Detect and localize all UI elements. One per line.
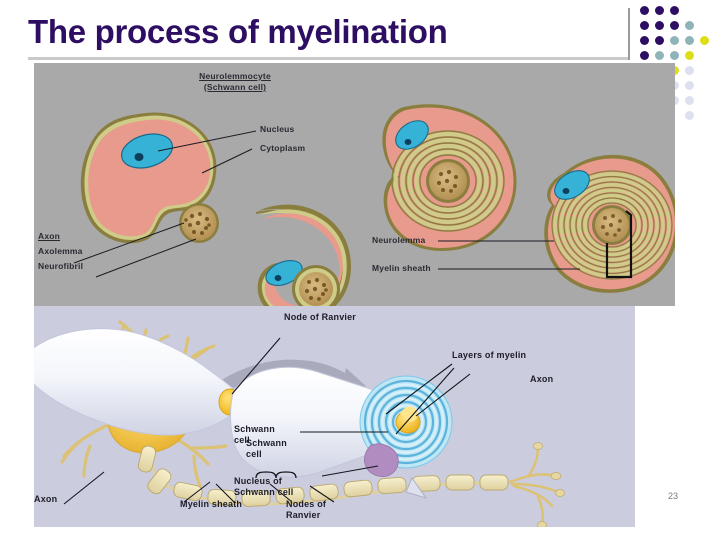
neuron-illustration [34,306,635,527]
title-divider [28,57,628,60]
decor-dot [700,36,709,45]
label-schwann-cell-right: Schwann cell [234,424,275,447]
decor-dot [685,111,694,120]
decor-dot [670,6,679,15]
slide-number: 23 [668,491,678,501]
decor-dot [640,21,649,30]
label-node-of-ranvier: Node of Ranvier [284,312,356,323]
decor-dot [655,51,664,60]
page-title: The process of myelination [28,13,447,51]
schwann-wrap-illustration [34,63,675,306]
label-cytoplasm: Cytoplasm [260,143,305,154]
label-myelin-sheath-top: Myelin sheath [372,263,431,274]
decor-dot [685,96,694,105]
schwann-cell-stage-4 [544,155,675,293]
label-nodes-of-ranvier: Nodes of Ranvier [286,499,326,522]
label-axon-right: Axon [530,374,553,385]
label-axon: Axon [38,231,60,242]
magnified-axon [34,329,452,477]
decor-dot [655,6,664,15]
label-axon-left: Axon [34,494,57,505]
decor-dot [685,21,694,30]
decor-dot [685,51,694,60]
decor-dot [670,21,679,30]
label-neurolemmocyte: Neurolemmocyte (Schwann cell) [174,71,296,92]
schwann-cell-stage-2 [256,205,351,306]
label-myelin-sheath-bottom: Myelin sheath [180,499,242,510]
schwann-cell-stage-3 [382,104,516,251]
decor-dot [640,36,649,45]
decor-dot [640,6,649,15]
decor-dot [685,36,694,45]
label-neurofibril: Neurofibril [38,261,83,272]
label-layers-of-myelin: Layers of myelin [452,350,526,361]
label-axolemma: Axolemma [38,246,83,257]
decor-dot [685,66,694,75]
schwann-cell-stage-1 [81,112,219,243]
label-nucleus-of-schwann-cell: Nucleus of Schwann cell [234,476,293,499]
myelinated-neuron-figure: Axon Myelin sheath Schwann cell Nodes of… [34,306,635,527]
decor-dot [670,36,679,45]
decor-dot [655,21,664,30]
schwann-cell-wrapping-figure: Neurolemmocyte (Schwann cell) Nucleus Cy… [34,63,675,306]
decor-dot [685,81,694,90]
decor-dot [670,51,679,60]
decor-dot [640,51,649,60]
header-vertical-divider [628,8,630,60]
label-nucleus: Nucleus [260,124,294,135]
label-neurolemma: Neurolemma [372,235,426,246]
decor-dot [655,36,664,45]
